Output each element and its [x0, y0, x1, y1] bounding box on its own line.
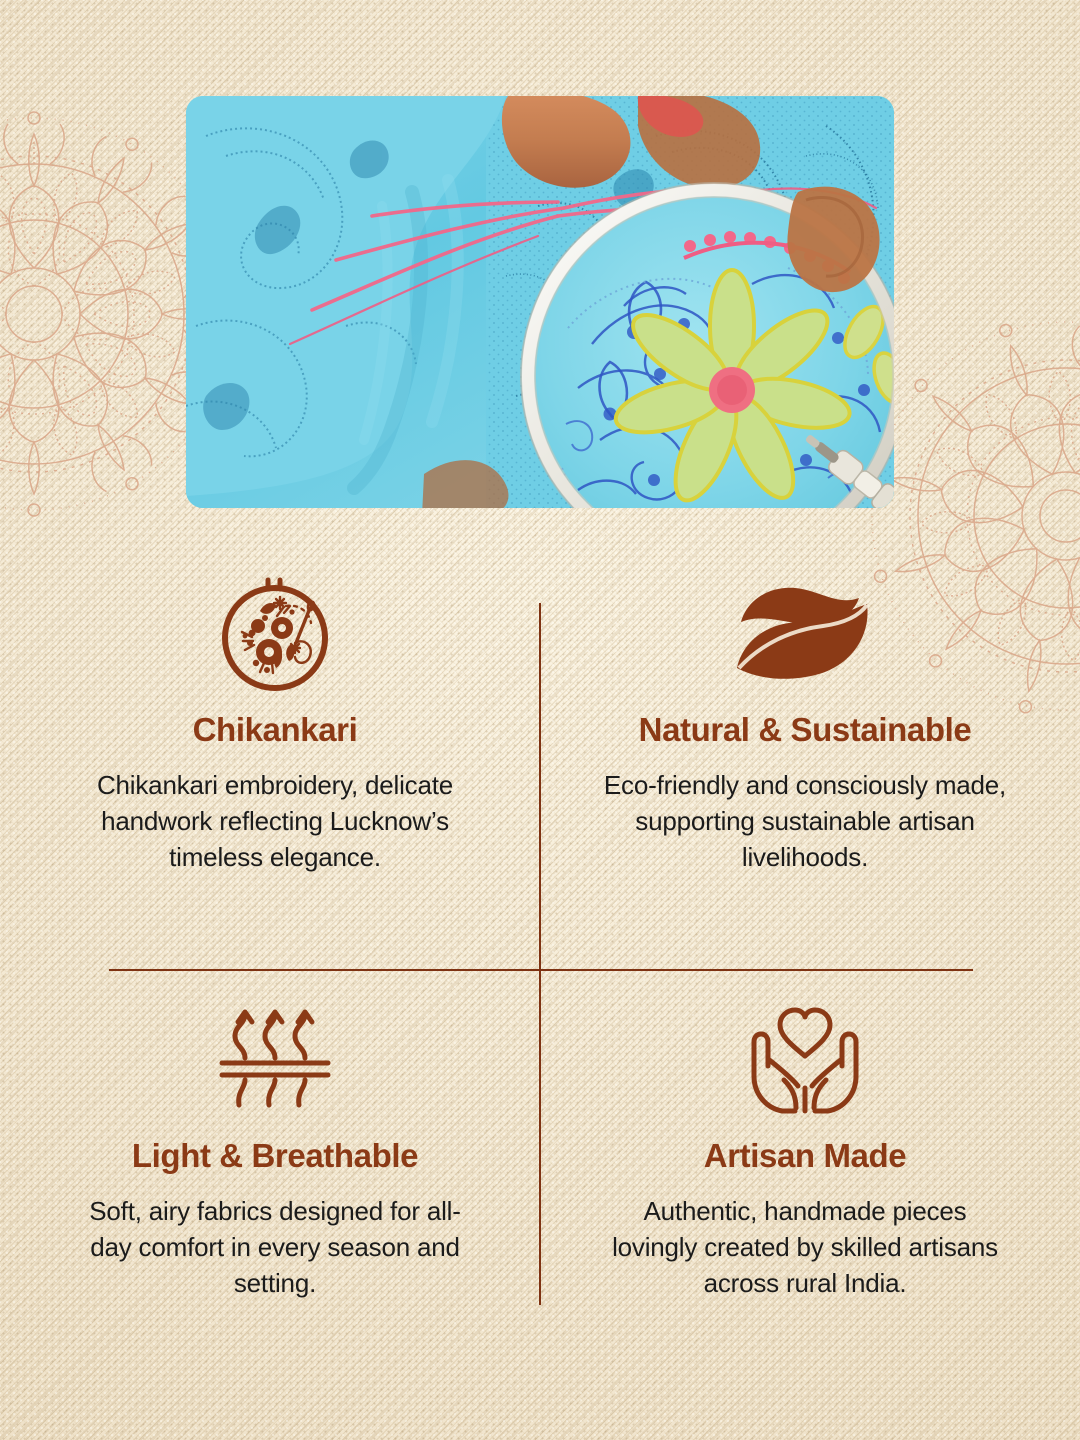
hands-heart-icon — [570, 1000, 1040, 1120]
feature-card-artisan-made: Artisan Made Authentic, handmade pieces … — [570, 1000, 1040, 1301]
feature-title: Chikankari — [40, 712, 510, 748]
divider-horizontal — [109, 969, 973, 971]
feature-description: Soft, airy fabrics designed for all-day … — [70, 1194, 480, 1301]
feature-card-natural-sustainable: Natural & Sustainable Eco-friendly and c… — [570, 574, 1040, 875]
feature-description: Eco-friendly and consciously made, suppo… — [598, 768, 1013, 875]
feature-description: Chikankari embroidery, delicate handwork… — [75, 768, 475, 875]
embroidery-hoop-icon — [40, 574, 510, 694]
feature-card-chikankari: Chikankari Chikankari embroidery, delica… — [40, 574, 510, 875]
divider-vertical — [539, 603, 541, 1305]
hero-photo-embroidery — [186, 96, 894, 508]
feature-card-light-breathable: Light & Breathable Soft, airy fabrics de… — [40, 1000, 510, 1301]
feature-title: Natural & Sustainable — [570, 712, 1040, 748]
leaf-icon — [570, 574, 1040, 694]
breathable-fabric-icon — [40, 1000, 510, 1120]
feature-title: Artisan Made — [570, 1138, 1040, 1174]
feature-title: Light & Breathable — [40, 1138, 510, 1174]
feature-poster: Chikankari Chikankari embroidery, delica… — [0, 0, 1080, 1440]
embroidery-photo — [186, 96, 894, 508]
feature-description: Authentic, handmade pieces lovingly crea… — [598, 1194, 1013, 1301]
